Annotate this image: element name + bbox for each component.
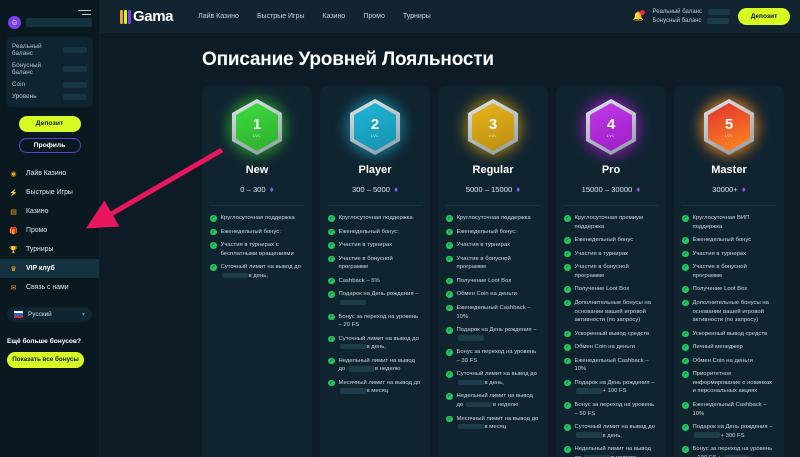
balance-label: Бонусный баланс — [12, 62, 63, 76]
check-icon: ✓ — [682, 358, 689, 365]
feature-tail: в день, — [367, 344, 386, 350]
feature-item: ✓Еженедельный бонус: — [446, 228, 540, 237]
feature-item: ✓Получение Loot Box — [682, 285, 776, 294]
check-icon: ✓ — [328, 229, 335, 236]
show-all-bonuses-button[interactable]: Показать все бонусы — [7, 352, 84, 368]
top-nav-link-4[interactable]: Турниры — [403, 13, 431, 20]
check-icon: ✓ — [682, 237, 689, 244]
sidebar-item-1[interactable]: ⚡Быстрые Игры — [0, 183, 99, 202]
feature-text: Месячный лимит на вывод до — [339, 380, 421, 386]
check-icon: ✓ — [446, 305, 453, 312]
feature-text: Участие в бонусной программе — [693, 264, 747, 279]
card-range: 15000 – 30000♦ — [582, 185, 641, 194]
feature-text: Дополнительные бонусы на основании вашей… — [693, 300, 769, 323]
feature-item: ✓Участия в турнирах — [328, 241, 422, 250]
feature-item: ✓Еженедельный Cashback – 10% — [446, 304, 540, 321]
card-title: Pro — [602, 164, 620, 176]
gem-icon: ♦ — [394, 185, 398, 194]
feature-item: ✓Еженедельный Cashback – 10% — [682, 401, 776, 418]
check-icon: ✓ — [446, 229, 453, 236]
feature-item: ✓Бонус за переход на уровень – 20 FS — [328, 313, 422, 330]
level-badge: 4LVL — [586, 96, 636, 158]
feature-item: ✓Участия в турнирах с бесплатными вращен… — [210, 241, 304, 258]
feature-tail: + 100 FS — [603, 388, 627, 394]
loyalty-levels-card-list: 1LVLNew0 – 300♦✓Круглосуточная поддержка… — [202, 86, 792, 457]
redacted-value — [466, 402, 492, 408]
feature-text: Еженедельный бонус: — [339, 229, 399, 235]
feature-text: Получение Loot Box — [693, 286, 748, 292]
balance-label: Бонусный баланс — [653, 18, 702, 24]
loyalty-card-0: 1LVLNew0 – 300♦✓Круглосуточная поддержка… — [202, 86, 312, 457]
check-icon: ✓ — [210, 229, 217, 236]
feature-text: Личный менеджер — [693, 344, 743, 350]
feature-tail: в день, — [603, 433, 622, 439]
level-number: 3 — [489, 117, 497, 132]
check-icon: ✓ — [564, 380, 571, 387]
check-icon: ✓ — [682, 331, 689, 338]
card-range: 300 – 5000♦ — [352, 185, 398, 194]
check-icon: ✓ — [328, 380, 335, 387]
feature-text: Получение Loot Box — [575, 286, 630, 292]
check-icon: ✓ — [328, 291, 335, 298]
bonus-promo-block: Ещё больше бонусов? Показать все бонусы — [7, 338, 92, 368]
sidebar-item-label: Казино — [26, 208, 48, 215]
gem-icon: ♦ — [270, 185, 274, 194]
sidebar-item-4[interactable]: 🏆Турниры — [0, 240, 99, 259]
redacted-value — [340, 300, 366, 306]
feature-tail: + 300 FS — [721, 433, 745, 439]
gem-icon: ♦ — [516, 185, 520, 194]
balance-label: Coin — [12, 81, 25, 88]
feature-text: Круглосуточная ВИП поддержка — [693, 215, 750, 230]
sidebar-item-6[interactable]: ✉Связь с нами — [0, 278, 99, 297]
check-icon: ✓ — [682, 446, 689, 453]
balance-value-redacted — [63, 94, 87, 100]
feature-tail: в неделю — [493, 402, 519, 408]
loyalty-card-2: 3LVLRegular5000 – 15000♦✓Круглосуточная … — [438, 86, 548, 457]
gama-logo[interactable]: Gama — [120, 8, 173, 25]
feature-item: ✓Личный менеджер — [682, 343, 776, 352]
feature-text: Ускоренный вывод средств — [575, 331, 650, 337]
feature-item: ✓Обмен Coin на деньги — [564, 343, 658, 352]
feature-text: Еженедельный бонус — [693, 237, 752, 243]
redacted-value — [576, 388, 602, 394]
feature-item: ✓Участия в турнирах — [446, 241, 540, 250]
feature-list: ✓Круглосуточная поддержка ✓Еженедельный … — [446, 214, 540, 432]
feature-item: ✓Суточный лимит на вывод до в день, — [446, 370, 540, 387]
feature-item: ✓Участие в бонусной программе — [564, 263, 658, 280]
check-icon: ✓ — [682, 402, 689, 409]
check-icon: ✓ — [682, 371, 689, 378]
feature-item: ✓Круглосуточная поддержка — [328, 214, 422, 223]
check-icon: ✓ — [682, 286, 689, 293]
check-icon: ✓ — [446, 278, 453, 285]
contact-us-icon: ✉ — [8, 282, 19, 293]
check-icon: ✓ — [328, 336, 335, 343]
notification-bell-icon[interactable]: 🔔 — [633, 10, 645, 24]
sidebar-item-label: Быстрые Игры — [26, 189, 73, 196]
language-label: Русский — [28, 311, 77, 318]
feature-item: ✓Дополнительные бонусы на основании ваше… — [682, 299, 776, 325]
feature-item: ✓Обмен Coin на деньги — [682, 357, 776, 366]
feature-text: Круглосуточная поддержка — [339, 215, 413, 221]
check-icon: ✓ — [682, 424, 689, 431]
check-icon: ✓ — [328, 278, 335, 285]
feature-text: Получение Loot Box — [457, 278, 512, 284]
sidebar-item-label: Лайв Казино — [26, 170, 66, 177]
check-icon: ✓ — [564, 300, 571, 307]
top-navigation-bar: Gama Лайв КазиноБыстрые ИгрыКазиноПромоТ… — [100, 0, 800, 33]
feature-text: Еженедельный Cashback – 10% — [457, 305, 531, 320]
feature-text: Бонус за переход на уровень – 30 FS — [457, 349, 537, 364]
feature-text: Участия в турнирах — [693, 251, 747, 257]
topbar-balance-bonus: Бонусный баланс — [653, 18, 730, 24]
fast-games-icon: ⚡ — [8, 187, 19, 198]
feature-item: ✓Подарок на День рождения – — [446, 326, 540, 343]
check-icon: ✓ — [564, 215, 571, 222]
feature-item: ✓Участия в турнирах — [682, 250, 776, 259]
check-icon: ✓ — [328, 242, 335, 249]
redacted-value — [340, 388, 366, 394]
level-badge: 1LVL — [232, 96, 282, 158]
check-icon: ✓ — [564, 358, 571, 365]
hamburger-menu-icon[interactable] — [78, 7, 91, 18]
balance-value-redacted — [63, 82, 87, 88]
feature-item: ✓Подарок на День рождения – — [328, 290, 422, 307]
check-icon: ✓ — [446, 349, 453, 356]
feature-item: ✓Участие в бонусной программе — [446, 255, 540, 272]
feature-text: Обмен Coin на деньги — [575, 344, 635, 350]
sidebar-item-label: VIP клуб — [26, 265, 55, 272]
feature-text: Месячный лимит на вывод до — [457, 416, 539, 422]
card-title: Regular — [473, 164, 514, 176]
check-icon: ✓ — [564, 264, 571, 271]
check-icon: ✓ — [564, 446, 571, 453]
feature-item: ✓Суточный лимит на вывод до в день, — [564, 423, 658, 440]
sidebar-item-3[interactable]: 🎁Промо — [0, 221, 99, 240]
feature-tail: в день, — [485, 380, 504, 386]
level-number: 4 — [607, 117, 615, 132]
feature-item: ✓Еженедельный бонус — [682, 236, 776, 245]
check-icon: ✓ — [564, 344, 571, 351]
range-text: 5000 – 15000 — [466, 185, 512, 194]
check-icon: ✓ — [564, 331, 571, 338]
level-number: 2 — [371, 117, 379, 132]
balance-panel: Реальный баланс Бонусный баланс Coin Уро… — [6, 37, 93, 107]
check-icon: ✓ — [446, 371, 453, 378]
balance-row-coin: Coin — [12, 81, 87, 88]
divider — [210, 205, 304, 206]
feature-text: Участия в турнирах — [339, 242, 393, 248]
level-sub-label: LVL — [725, 133, 733, 138]
card-range: 30000+♦ — [712, 185, 746, 194]
feature-text: Бонус за переход на уровень – 50 FS — [575, 402, 655, 417]
balance-row-real: Реальный баланс — [12, 43, 87, 57]
sidebar-item-label: Связь с нами — [26, 284, 69, 291]
feature-text: Участие в бонусной программе — [457, 256, 511, 271]
redacted-value — [340, 344, 366, 350]
level-badge: 5LVL — [704, 96, 754, 158]
feature-text: Еженедельный Cashback – 10% — [693, 402, 767, 417]
feature-text: Еженедельный бонус — [575, 237, 634, 243]
check-icon: ✓ — [564, 251, 571, 258]
feature-text: Еженедельный бонус: — [457, 229, 517, 235]
sidebar-item-label: Промо — [26, 227, 47, 234]
check-icon: ✓ — [682, 251, 689, 258]
balance-row-bonus: Бонусный баланс — [12, 62, 87, 76]
level-badge: 2LVL — [350, 96, 400, 158]
notification-dot — [640, 10, 645, 15]
top-right-cluster: 🔔 Реальный баланс Бонусный баланс Депози… — [633, 8, 800, 25]
level-number: 5 — [725, 117, 733, 132]
feature-item: ✓Ускоренный вывод средств — [682, 330, 776, 339]
redacted-value — [348, 366, 374, 372]
russia-flag-icon — [14, 311, 23, 318]
feature-item: ✓Участия в турнирах — [564, 250, 658, 259]
feature-tail: в день, — [249, 273, 268, 279]
check-icon: ✓ — [446, 256, 453, 263]
check-icon: ✓ — [564, 424, 571, 431]
top-nav-link-1[interactable]: Быстрые Игры — [257, 13, 305, 20]
feature-item: ✓Получение Loot Box — [446, 277, 540, 286]
feature-list: ✓Круглосуточная премиум поддержка ✓Ежене… — [564, 214, 658, 457]
feature-item: ✓Месячный лимит на вывод до в месяц — [446, 415, 540, 432]
check-icon: ✓ — [446, 393, 453, 400]
live-casino-icon: ◉ — [8, 168, 19, 179]
feature-item: ✓Участие в бонусной программе — [682, 263, 776, 280]
top-nav-link-2[interactable]: Казино — [323, 13, 346, 20]
feature-text: Подарок на День рождения – — [457, 327, 537, 333]
feature-item: ✓Круглосуточная поддержка — [446, 214, 540, 223]
feature-text: Суточный лимит на вывод до — [339, 336, 419, 342]
check-icon: ✓ — [328, 314, 335, 321]
feature-item: ✓Еженедельный бонус — [564, 236, 658, 245]
feature-item: ✓Круглосуточная ВИП поддержка — [682, 214, 776, 231]
feature-item: ✓Участие в бонусной программе — [328, 255, 422, 272]
feature-item: ✓Недельный лимит на вывод до в неделю — [446, 392, 540, 409]
chevron-down-icon: ▾ — [82, 311, 85, 318]
feature-list: ✓Круглосуточная ВИП поддержка ✓Еженедель… — [682, 214, 776, 457]
topbar-balances: Реальный баланс Бонусный баланс — [653, 9, 730, 24]
avatar: ☺ — [8, 16, 21, 29]
sidebar-item-label: Турниры — [26, 246, 53, 253]
check-icon: ✓ — [446, 327, 453, 334]
level-sub-label: LVL — [371, 133, 379, 138]
feature-item: ✓Круглосуточная премиум поддержка — [564, 214, 658, 231]
top-nav-link-3[interactable]: Промо — [363, 13, 385, 20]
card-range: 5000 – 15000♦ — [466, 185, 521, 194]
feature-tail: в месяц — [485, 424, 507, 430]
feature-text: Обмен Coin на деньги — [693, 358, 753, 364]
feature-text: Круглосуточная поддержка — [221, 215, 295, 221]
gem-icon: ♦ — [636, 185, 640, 194]
check-icon: ✓ — [564, 237, 571, 244]
main-content: Описание Уровней Лояльности 1LVLNew0 – 3… — [172, 33, 800, 457]
sidebar-item-0[interactable]: ◉Лайв Казино — [0, 164, 99, 183]
feature-text: Участия в турнирах с бесплатными вращени… — [221, 242, 294, 257]
range-text: 30000+ — [712, 185, 738, 194]
check-icon: ✓ — [210, 242, 217, 249]
balance-row-level: Уровень — [12, 93, 87, 100]
feature-item: ✓Бонус за переход на уровень – 100 FS + — [682, 445, 776, 457]
feature-text: Участия в турнирах — [457, 242, 511, 248]
feature-item: ✓Дополнительные бонусы на основании ваше… — [564, 299, 658, 325]
feature-text: Суточный лимит на вывод до — [575, 424, 655, 430]
divider — [446, 205, 540, 206]
divider — [682, 205, 776, 206]
feature-item: ✓Еженедельный Cashback – 10% — [564, 357, 658, 374]
topbar-balance-real: Реальный баланс — [653, 9, 730, 15]
page-title: Описание Уровней Лояльности — [202, 49, 792, 71]
feature-text: Еженедельный Cashback – 10% — [575, 358, 649, 373]
feature-list: ✓Круглосуточная поддержка ✓Еженедельный … — [328, 214, 422, 396]
feature-item: ✓Круглосуточная поддержка — [210, 214, 304, 223]
balance-value-redacted — [708, 9, 730, 15]
feature-item: ✓Недельный лимит на вывод до в неделю — [328, 357, 422, 374]
divider — [328, 205, 422, 206]
redacted-value — [458, 424, 484, 430]
sidebar: ☺ Реальный баланс Бонусный баланс Coin У… — [0, 0, 100, 457]
feature-list: ✓Круглосуточная поддержка ✓Еженедельный … — [210, 214, 304, 280]
feature-text: Бонус за переход на уровень – 20 FS — [339, 314, 419, 329]
username-redacted — [26, 18, 92, 27]
check-icon: ✓ — [328, 358, 335, 365]
divider — [564, 205, 658, 206]
loyalty-card-4: 5LVLMaster30000+♦✓Круглосуточная ВИП под… — [674, 86, 784, 457]
redacted-value — [576, 432, 602, 438]
feature-item: ✓Бонус за переход на уровень – 50 FS — [564, 401, 658, 418]
feature-tail: в месяц — [367, 388, 389, 394]
check-icon: ✓ — [328, 215, 335, 222]
feature-item: ✓Подарок на День рождения – + 100 FS — [564, 379, 658, 396]
balance-value-redacted — [63, 47, 87, 53]
check-icon: ✓ — [564, 286, 571, 293]
balance-value-redacted — [63, 66, 87, 72]
range-text: 15000 – 30000 — [582, 185, 633, 194]
level-sub-label: LVL — [253, 133, 261, 138]
check-icon: ✓ — [446, 291, 453, 298]
feature-item: ✓Суточный лимит на вывод до в день, — [210, 263, 304, 280]
topbar-deposit-button[interactable]: Депозит — [738, 8, 790, 25]
sidebar-nav: ◉Лайв Казино⚡Быстрые Игры▤Казино🎁Промо🏆Т… — [0, 164, 99, 297]
gem-icon: ♦ — [742, 185, 746, 194]
feature-text: Суточный лимит на вывод до — [221, 264, 301, 270]
feature-text: Участия в турнирах — [575, 251, 629, 257]
feature-text: Дополнительные бонусы на основании вашей… — [575, 300, 651, 323]
feature-text: Подарок на День рождения – — [575, 380, 655, 386]
feature-tail: в неделю — [375, 366, 401, 372]
feature-text: Круглосуточная поддержка — [457, 215, 531, 221]
logo-mark-icon — [120, 10, 131, 24]
range-text: 300 – 5000 — [352, 185, 390, 194]
redacted-value — [458, 335, 484, 341]
feature-text: Подарок на День рождения – — [339, 291, 419, 297]
feature-text: Обмен Coin на деньги — [457, 291, 517, 297]
range-text: 0 – 300 — [240, 185, 265, 194]
card-title: New — [246, 164, 269, 176]
card-range: 0 – 300♦ — [240, 185, 273, 194]
level-badge: 3LVL — [468, 96, 518, 158]
promo-gift-icon: 🎁 — [8, 225, 19, 236]
feature-text: Участие в бонусной программе — [339, 256, 393, 271]
redacted-value — [458, 380, 484, 386]
sidebar-item-2[interactable]: ▤Казино — [0, 202, 99, 221]
feature-text: Еженедельный бонус: — [221, 229, 281, 235]
feature-item: ✓Подарок на День рождения – + 300 FS — [682, 423, 776, 440]
feature-item: ✓Бонус за переход на уровень – 30 FS — [446, 348, 540, 365]
feature-text: Круглосуточная премиум поддержка — [575, 215, 644, 230]
feature-text: Приоритетное информирование о новинках и… — [693, 371, 773, 394]
tournaments-trophy-icon: 🏆 — [8, 244, 19, 255]
feature-item: ✓Еженедельный бонус: — [210, 228, 304, 237]
redacted-value — [694, 432, 720, 438]
bonus-question-text: Ещё больше бонусов? — [7, 338, 92, 345]
feature-text: Ускоренный вывод средств — [693, 331, 768, 337]
loyalty-card-3: 4LVLPro15000 – 30000♦✓Круглосуточная пре… — [556, 86, 666, 457]
casino-icon: ▤ — [8, 206, 19, 217]
feature-text: Участие в бонусной программе — [575, 264, 629, 279]
feature-item: ✓Ускоренный вывод средств — [564, 330, 658, 339]
balance-label: Реальный баланс — [653, 9, 702, 15]
feature-item: ✓Месячный лимит на вывод до в месяц — [328, 379, 422, 396]
check-icon: ✓ — [446, 242, 453, 249]
feature-item: ✓Cashback – 5% — [328, 277, 422, 286]
redacted-value — [222, 273, 248, 279]
vip-club-icon: ♛ — [8, 263, 19, 274]
check-icon: ✓ — [328, 256, 335, 263]
feature-item: ✓Еженедельный бонус: — [328, 228, 422, 237]
logo-text: Gama — [133, 8, 173, 25]
sidebar-deposit-button[interactable]: Депозит — [19, 116, 81, 132]
check-icon: ✓ — [564, 402, 571, 409]
check-icon: ✓ — [682, 344, 689, 351]
check-icon: ✓ — [210, 264, 217, 271]
feature-text: Суточный лимит на вывод до — [457, 371, 537, 377]
check-icon: ✓ — [682, 264, 689, 271]
sidebar-profile-button[interactable]: Профиль — [19, 138, 81, 153]
level-sub-label: LVL — [489, 133, 497, 138]
card-title: Player — [358, 164, 391, 176]
feature-item: ✓Недельный лимит на вывод до в неделю — [564, 445, 658, 457]
feature-item: ✓Суточный лимит на вывод до в день, — [328, 335, 422, 352]
feature-text: Cashback – 5% — [339, 278, 380, 284]
check-icon: ✓ — [682, 215, 689, 222]
level-sub-label: LVL — [607, 133, 615, 138]
check-icon: ✓ — [446, 215, 453, 222]
feature-item: ✓Получение Loot Box — [564, 285, 658, 294]
card-title: Master — [711, 164, 746, 176]
loyalty-card-1: 2LVLPlayer300 – 5000♦✓Круглосуточная под… — [320, 86, 430, 457]
sidebar-item-5[interactable]: ♛VIP клуб — [0, 259, 99, 278]
check-icon: ✓ — [446, 416, 453, 423]
top-nav-link-0[interactable]: Лайв Казино — [198, 13, 239, 20]
feature-item: ✓Приоритетное информирование о новинках … — [682, 370, 776, 396]
level-number: 1 — [253, 117, 261, 132]
top-nav-links: Лайв КазиноБыстрые ИгрыКазиноПромоТурнир… — [198, 13, 431, 20]
balance-label: Уровень — [12, 93, 37, 100]
feature-text: Подарок на День рождения – — [693, 424, 773, 430]
language-selector[interactable]: Русский ▾ — [7, 307, 92, 322]
balance-value-redacted — [707, 18, 729, 24]
balance-label: Реальный баланс — [12, 43, 63, 57]
feature-item: ✓Обмен Coin на деньги — [446, 290, 540, 299]
check-icon: ✓ — [210, 215, 217, 222]
check-icon: ✓ — [682, 300, 689, 307]
